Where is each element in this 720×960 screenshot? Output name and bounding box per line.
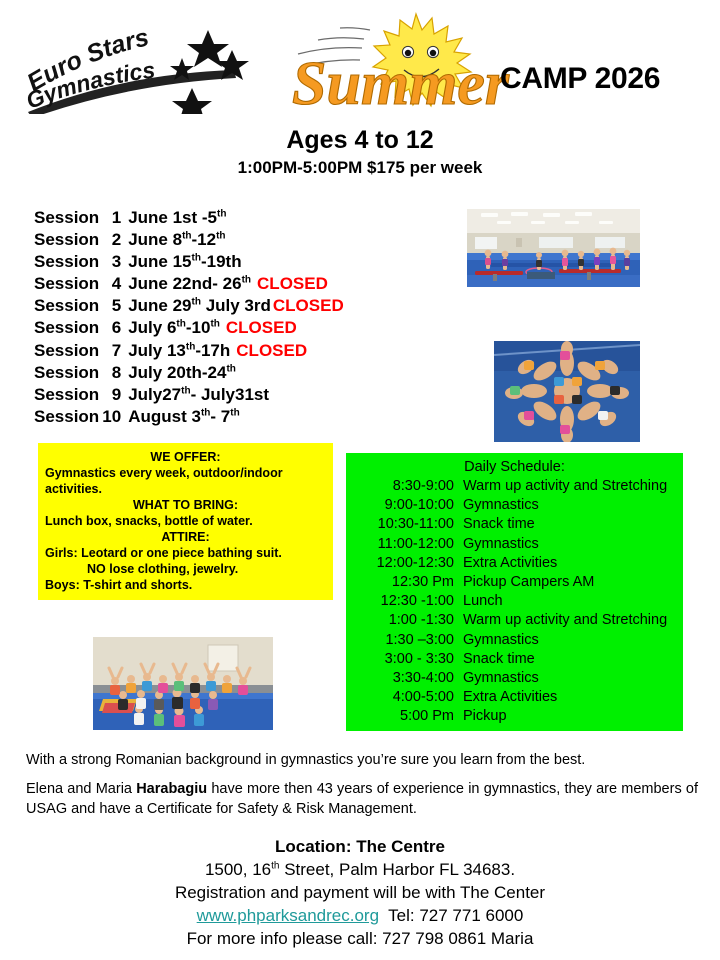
- session-label: Session: [34, 251, 99, 273]
- schedule-time: 12:30 -1:00: [346, 592, 463, 611]
- session-label: Session: [34, 340, 99, 362]
- schedule-activity: Warm up activity and Stretching: [463, 477, 683, 496]
- schedule-row: 11:00-12:00Gymnastics: [346, 535, 683, 554]
- session-dates: July 6th-10th: [128, 317, 220, 339]
- paragraph-coaches: Elena and Maria Harabagiu have more then…: [26, 779, 698, 819]
- schedule-time: 8:30-9:00: [346, 477, 463, 496]
- summer-sun-graphic: Summer: [288, 12, 518, 112]
- schedule-row: 8:30-9:00Warm up activity and Stretching: [346, 477, 683, 496]
- session-dates: June 29th July 3rd: [128, 295, 271, 317]
- website-link[interactable]: www.phparksandrec.org: [197, 906, 379, 925]
- session-dates: July 13th-17h: [128, 340, 230, 362]
- daily-schedule-rows: 8:30-9:00Warm up activity and Stretching…: [346, 477, 683, 727]
- session-row: Session3June 15th-19th: [34, 251, 454, 273]
- address-post: Street, Palm Harbor FL 34683.: [279, 860, 515, 879]
- session-label: Session: [34, 207, 99, 229]
- schedule-row: 12:00-12:30Extra Activities: [346, 554, 683, 573]
- session-dates: July27th- July31st: [128, 384, 269, 406]
- schedule-time: 11:00-12:00: [346, 535, 463, 554]
- schedule-row: 4:00-5:00Extra Activities: [346, 688, 683, 707]
- session-dates: June 8th-12th: [128, 229, 225, 251]
- session-number: 5: [99, 295, 121, 317]
- about-paragraphs: With a strong Romanian background in gym…: [26, 750, 698, 828]
- schedule-activity: Pickup Campers AM: [463, 573, 683, 592]
- flyer-footer: Location: The Centre 1500, 16th Street, …: [0, 835, 720, 950]
- session-label: Session: [34, 384, 99, 406]
- session-row: Session6July 6th-10thCLOSED: [34, 317, 454, 339]
- session-closed-badge: CLOSED: [257, 274, 328, 293]
- schedule-activity: Lunch: [463, 592, 683, 611]
- attire-girls-line: Girls: Leotard or one piece bathing suit…: [45, 545, 326, 561]
- more-info-line: For more info please call: 727 798 0861 …: [0, 927, 720, 950]
- session-number: 8: [99, 362, 121, 384]
- schedule-time: 12:30 Pm: [346, 573, 463, 592]
- camp-title: CAMP 2026: [500, 62, 660, 96]
- schedule-activity: Warm up activity and Stretching: [463, 611, 683, 630]
- ages-headline: Ages 4 to 12: [0, 126, 720, 155]
- coaches-surname: Harabagiu: [136, 781, 207, 797]
- session-dates: July 20th-24th: [128, 362, 236, 384]
- schedule-activity: Gymnastics: [463, 496, 683, 515]
- schedule-activity: Snack time: [463, 650, 683, 669]
- schedule-time: 1:00 -1:30: [346, 611, 463, 630]
- session-number: 7: [99, 340, 121, 362]
- schedule-activity: Extra Activities: [463, 554, 683, 573]
- schedule-row: 12:30 -1:00Lunch: [346, 592, 683, 611]
- session-dates: June 22nd- 26th: [128, 273, 251, 295]
- schedule-row: 3:00 - 3:30Snack time: [346, 650, 683, 669]
- schedule-row: 9:00-10:00Gymnastics: [346, 496, 683, 515]
- session-number: 4: [99, 273, 121, 295]
- address-line: 1500, 16th Street, Palm Harbor FL 34683.: [0, 858, 720, 881]
- session-number: 10: [99, 406, 121, 428]
- what-to-bring-line: Lunch box, snacks, bottle of water.: [45, 513, 326, 529]
- svg-text:Summer: Summer: [292, 50, 510, 114]
- schedule-time: 10:30-11:00: [346, 515, 463, 534]
- schedule-activity: Pickup: [463, 707, 683, 726]
- schedule-row: 5:00 PmPickup: [346, 707, 683, 726]
- we-offer-line-2: activities.: [45, 481, 326, 497]
- session-number: 1: [99, 207, 121, 229]
- coaches-text-pre: Elena and Maria: [26, 781, 136, 797]
- session-label: Session: [34, 317, 99, 339]
- session-row: Session2June 8th-12th: [34, 229, 454, 251]
- session-number: 3: [99, 251, 121, 273]
- schedule-row: 10:30-11:00Snack time: [346, 515, 683, 534]
- session-row: Session1June 1st -5th: [34, 207, 454, 229]
- session-dates: June 1st -5th: [128, 207, 226, 229]
- we-offer-box: WE OFFER: Gymnastics every week, outdoor…: [38, 443, 333, 600]
- address-pre: 1500, 16: [205, 860, 271, 879]
- we-offer-heading: WE OFFER:: [45, 449, 326, 465]
- registration-line: Registration and payment will be with Th…: [0, 881, 720, 904]
- session-label: Session: [34, 229, 99, 251]
- attire-girls-line-2: NO lose clothing, jewelry.: [45, 561, 326, 577]
- session-dates: June 15th-19th: [128, 251, 241, 273]
- schedule-activity: Snack time: [463, 515, 683, 534]
- schedule-row: 1:30 –3:00Gymnastics: [346, 631, 683, 650]
- session-number: 2: [99, 229, 121, 251]
- attire-heading: ATTIRE:: [45, 529, 326, 545]
- session-closed-badge: CLOSED: [226, 318, 297, 337]
- schedule-activity: Gymnastics: [463, 669, 683, 688]
- schedule-time: 12:00-12:30: [346, 554, 463, 573]
- schedule-time: 5:00 Pm: [346, 707, 463, 726]
- schedule-row: 3:30-4:00Gymnastics: [346, 669, 683, 688]
- session-label: Session: [34, 295, 99, 317]
- schedule-time: 4:00-5:00: [346, 688, 463, 707]
- session-label: Session: [34, 362, 99, 384]
- paragraph-romanian-background: With a strong Romanian background in gym…: [26, 750, 698, 770]
- location-heading: Location: The Centre: [0, 835, 720, 858]
- what-to-bring-heading: WHAT TO BRING:: [45, 497, 326, 513]
- we-offer-line-1: Gymnastics every week, outdoor/indoor: [45, 465, 326, 481]
- session-row: Session8July 20th-24th: [34, 362, 454, 384]
- schedule-time: 3:00 - 3:30: [346, 650, 463, 669]
- photo-camper-group: [93, 637, 273, 730]
- daily-schedule-box: Daily Schedule: 8:30-9:00Warm up activit…: [346, 453, 683, 731]
- flyer-header: Euro Stars Gymnastics: [0, 0, 720, 118]
- session-closed-badge: CLOSED: [273, 296, 344, 315]
- schedule-time: 9:00-10:00: [346, 496, 463, 515]
- session-closed-badge: CLOSED: [236, 341, 307, 360]
- session-row: Session10August 3th- 7th: [34, 406, 454, 428]
- session-row: Session7July 13th-17hCLOSED: [34, 340, 454, 362]
- website-and-tel-line: www.phparksandrec.org Tel: 727 771 6000: [0, 904, 720, 927]
- session-dates: August 3th- 7th: [128, 406, 239, 428]
- schedule-activity: Gymnastics: [463, 631, 683, 650]
- session-row: Session5June 29th July 3rdCLOSED: [34, 295, 454, 317]
- photo-campers-circle: [494, 341, 640, 442]
- session-number: 6: [99, 317, 121, 339]
- session-label: Session: [34, 406, 99, 428]
- schedule-row: 12:30 PmPickup Campers AM: [346, 573, 683, 592]
- attire-boys-line: Boys: T-shirt and shorts.: [45, 577, 326, 593]
- telephone-text: Tel: 727 771 6000: [388, 906, 523, 925]
- session-row: Session9July27th- July31st: [34, 384, 454, 406]
- schedule-time: 3:30-4:00: [346, 669, 463, 688]
- session-number: 9: [99, 384, 121, 406]
- schedule-row: 1:00 -1:30Warm up activity and Stretchin…: [346, 611, 683, 630]
- session-label: Session: [34, 273, 99, 295]
- session-row: Session4June 22nd- 26thCLOSED: [34, 273, 454, 295]
- schedule-time: 1:30 –3:00: [346, 631, 463, 650]
- daily-schedule-title: Daily Schedule:: [346, 458, 683, 477]
- schedule-activity: Extra Activities: [463, 688, 683, 707]
- ages-subline: 1:00PM-5:00PM $175 per week: [0, 158, 720, 178]
- flyer-page: Euro Stars Gymnastics: [0, 0, 720, 960]
- euro-stars-gymnastics-logo: Euro Stars Gymnastics: [22, 22, 252, 114]
- photo-gymnasts-on-beams: [467, 209, 640, 287]
- sessions-list: Session1June 1st -5thSession2June 8th-12…: [34, 207, 454, 428]
- schedule-activity: Gymnastics: [463, 535, 683, 554]
